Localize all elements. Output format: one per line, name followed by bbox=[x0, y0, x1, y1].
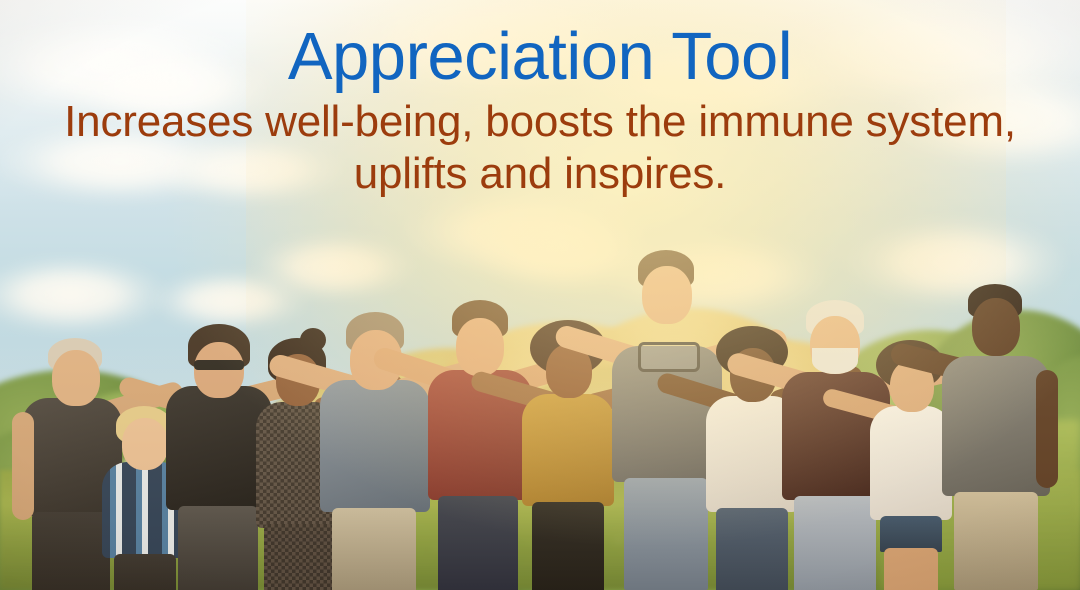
banner-text: Appreciation Tool Increases well-being, … bbox=[0, 0, 1080, 199]
people-group bbox=[0, 310, 1080, 590]
page-title: Appreciation Tool bbox=[0, 0, 1080, 92]
beard bbox=[812, 348, 858, 374]
page-subtitle: Increases well-being, boosts the immune … bbox=[0, 96, 1080, 200]
person-7 bbox=[516, 332, 620, 590]
eyeglasses-icon bbox=[194, 360, 244, 370]
person-12 bbox=[936, 304, 1054, 590]
appreciation-tool-banner: Appreciation Tool Increases well-being, … bbox=[0, 0, 1080, 590]
sunglasses-icon bbox=[638, 342, 700, 372]
